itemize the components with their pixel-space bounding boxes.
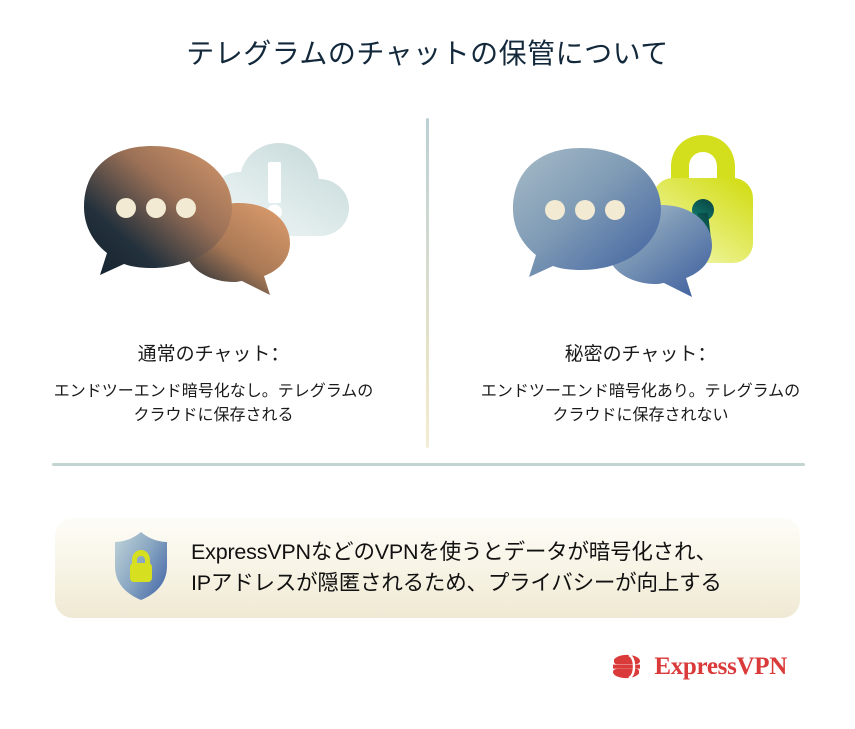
typing-dot bbox=[605, 200, 625, 220]
chat-bubbles-cloud-warning-icon bbox=[74, 115, 354, 315]
secret-chat-description: エンドツーエンド暗号化あり。テレグラムのクラウドに保存されない bbox=[481, 380, 801, 430]
regular-chat-heading: 通常のチャット： bbox=[138, 343, 290, 368]
expressvpn-logo-text: ExpressVPN bbox=[654, 653, 787, 681]
typing-dot bbox=[545, 200, 565, 220]
typing-dot bbox=[116, 198, 136, 218]
horizontal-divider bbox=[52, 463, 805, 466]
expressvpn-e-mark-icon bbox=[608, 652, 644, 682]
column-regular-chat: 通常のチャット： エンドツーエンド暗号化なし。テレグラムのクラウドに保存される bbox=[0, 112, 427, 452]
secret-chat-illustration-wrap bbox=[427, 112, 854, 317]
banner-shield-wrap bbox=[113, 530, 169, 607]
vpn-recommendation-banner: ExpressVPNなどのVPNを使うとデータが暗号化され、 IPアドレスが隠匿… bbox=[55, 518, 800, 618]
shield-lock-icon bbox=[113, 530, 169, 602]
regular-chat-illustration-wrap bbox=[0, 112, 427, 317]
banner-text-block: ExpressVPNなどのVPNを使うとデータが暗号化され、 IPアドレスが隠匿… bbox=[191, 537, 722, 599]
infographic-root: テレグラムのチャットの保管について bbox=[0, 0, 855, 729]
regular-chat-description: エンドツーエンド暗号化なし。テレグラムのクラウドに保存される bbox=[54, 380, 374, 430]
page-title: テレグラムのチャットの保管について bbox=[0, 36, 855, 72]
banner-text-line-2: IPアドレスが隠匿されるため、プライバシーが向上する bbox=[191, 568, 722, 599]
padlock-glyph-icon bbox=[130, 550, 152, 582]
typing-dot bbox=[176, 198, 196, 218]
column-secret-chat: 秘密のチャット： エンドツーエンド暗号化あり。テレグラムのクラウドに保存されない bbox=[427, 112, 854, 452]
vertical-divider bbox=[426, 118, 429, 448]
expressvpn-logo: ExpressVPN bbox=[608, 652, 787, 682]
typing-dot bbox=[575, 200, 595, 220]
banner-text-line-1: ExpressVPNなどのVPNを使うとデータが暗号化され、 bbox=[191, 537, 722, 568]
secret-chat-heading: 秘密のチャット： bbox=[565, 343, 717, 368]
chat-bubbles-padlock-icon bbox=[501, 115, 781, 315]
typing-dot bbox=[146, 198, 166, 218]
